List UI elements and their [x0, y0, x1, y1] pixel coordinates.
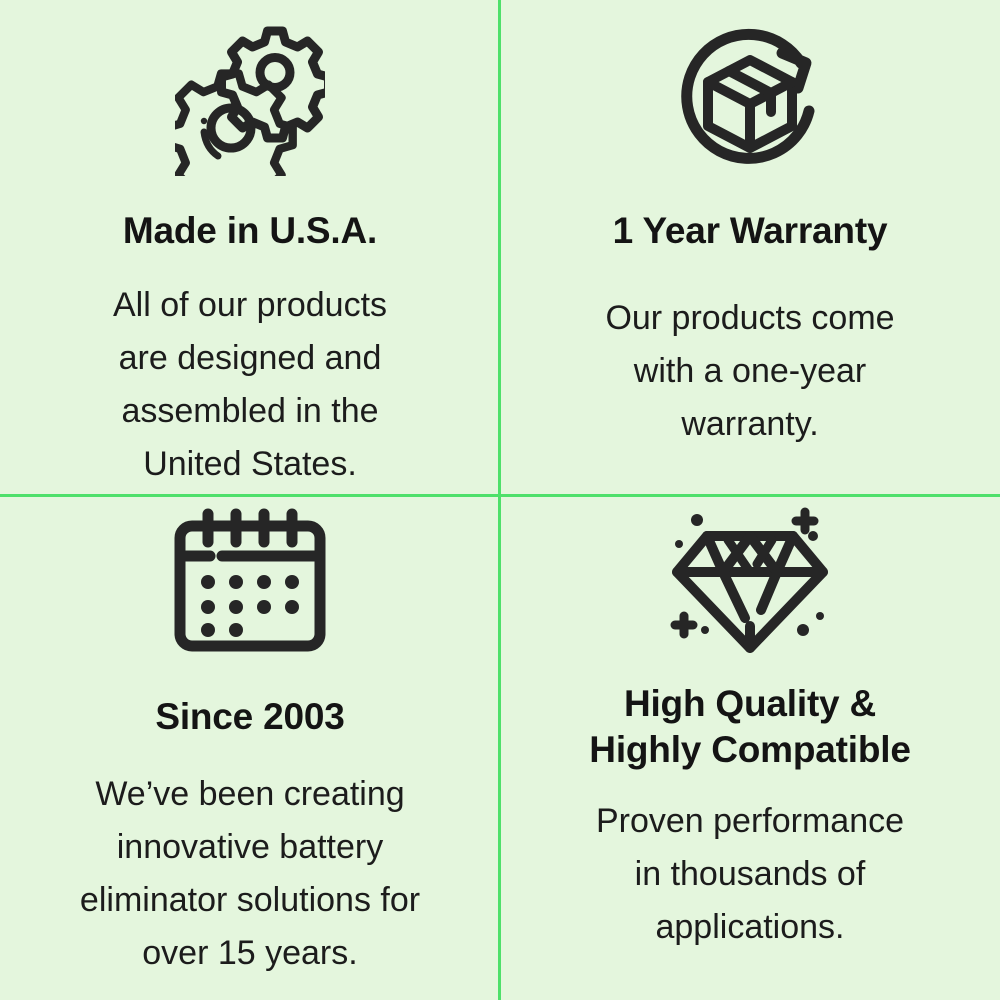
feature-body: We’ve been creating innovative battery e…	[80, 768, 420, 980]
feature-card-warranty: 1 Year Warranty Our products come with a…	[500, 0, 1000, 496]
feature-grid: Made in U.S.A. All of our products are d…	[0, 0, 1000, 1000]
feature-title: Since 2003	[155, 694, 344, 740]
feature-card-since-2003: Since 2003 We’ve been creating innovativ…	[0, 496, 500, 1000]
feature-card-high-quality: High Quality & Highly Compatible Proven …	[500, 496, 1000, 1000]
gears-icon	[175, 0, 325, 176]
calendar-icon	[170, 496, 330, 656]
feature-body: Our products come with a one-year warran…	[605, 292, 894, 451]
feature-title: 1 Year Warranty	[613, 208, 888, 254]
feature-title: Made in U.S.A.	[123, 208, 377, 254]
horizontal-divider	[0, 494, 1000, 497]
feature-body: Proven performance in thousands of appli…	[596, 795, 904, 954]
feature-card-made-in-usa: Made in U.S.A. All of our products are d…	[0, 0, 500, 496]
feature-body: All of our products are designed and ass…	[113, 279, 387, 491]
feature-title: High Quality & Highly Compatible	[589, 681, 910, 773]
box-return-warranty-icon	[670, 0, 830, 176]
vertical-divider	[498, 0, 501, 1000]
diamond-sparkle-icon	[665, 496, 835, 656]
